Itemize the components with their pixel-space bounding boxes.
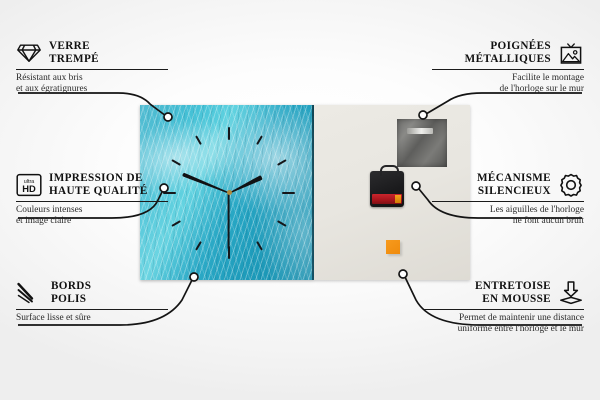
battery-cap bbox=[395, 195, 401, 203]
callout-impression-haute-qualite: ultra HD IMPRESSION DEHAUTE QUALITÉ Coul… bbox=[16, 172, 168, 228]
mechanism-hook bbox=[380, 165, 399, 176]
second-hand bbox=[228, 193, 230, 249]
hanger-slot bbox=[407, 128, 433, 134]
callout-divider bbox=[432, 201, 584, 202]
infographic-canvas: VERRETREMPÉ Résistant aux bris et aux ég… bbox=[0, 0, 600, 400]
callout-header: MÉCANISMESILENCIEUX bbox=[432, 172, 584, 198]
callout-header: VERRETREMPÉ bbox=[16, 40, 168, 66]
callout-subtitle: Surface lisse et sûre bbox=[16, 313, 168, 324]
callout-poignees-metalliques: POIGNÉESMÉTALLIQUES Facilite le montage … bbox=[432, 40, 584, 96]
callout-title: VERRETREMPÉ bbox=[49, 40, 99, 66]
picture-hanger-icon bbox=[558, 41, 584, 65]
hour-marker bbox=[256, 135, 263, 145]
callout-subtitle: Couleurs intenses et image claire bbox=[16, 205, 168, 228]
callout-header: ENTRETOISEEN MOUSSE bbox=[424, 280, 584, 306]
callout-title: IMPRESSION DEHAUTE QUALITÉ bbox=[49, 172, 148, 198]
callout-subtitle: Facilite le montage de l'horloge sur le … bbox=[432, 73, 584, 96]
diamond-icon bbox=[16, 43, 42, 63]
callout-divider bbox=[16, 69, 168, 70]
gear-icon bbox=[558, 172, 584, 198]
hour-marker bbox=[282, 192, 295, 194]
callout-header: POIGNÉESMÉTALLIQUES bbox=[432, 40, 584, 66]
callout-mecanisme-silencieux: MÉCANISMESILENCIEUX Les aiguilles de l'h… bbox=[432, 172, 584, 228]
callout-bords-polis: BORDSPOLIS Surface lisse et sûre bbox=[16, 280, 168, 324]
metal-hanger-swatch bbox=[397, 119, 447, 167]
hour-marker bbox=[171, 159, 181, 166]
minute-hand bbox=[182, 172, 230, 194]
hour-marker bbox=[256, 240, 263, 250]
hd-label: HD bbox=[22, 183, 36, 194]
callout-subtitle: Résistant aux bris et aux égratignures bbox=[16, 73, 168, 96]
clock-center-pin bbox=[227, 190, 232, 195]
hour-hand bbox=[228, 174, 263, 194]
callout-header: BORDSPOLIS bbox=[16, 280, 168, 306]
hour-marker bbox=[277, 159, 287, 166]
callout-entretoise-en-mousse: ENTRETOISEEN MOUSSE Permet de maintenir … bbox=[424, 280, 584, 336]
hour-marker bbox=[195, 135, 202, 145]
callout-title: ENTRETOISEEN MOUSSE bbox=[475, 280, 551, 306]
quartz-mechanism bbox=[370, 171, 404, 207]
callout-title: POIGNÉESMÉTALLIQUES bbox=[465, 40, 551, 66]
callout-title: BORDSPOLIS bbox=[51, 280, 91, 306]
callout-title: MÉCANISMESILENCIEUX bbox=[477, 172, 551, 198]
callout-divider bbox=[424, 309, 584, 310]
battery bbox=[372, 194, 402, 204]
callout-divider bbox=[432, 69, 584, 70]
product-photo bbox=[140, 105, 470, 280]
foam-spacer-arrow-icon bbox=[558, 280, 584, 306]
polished-edge-lines-icon bbox=[16, 282, 44, 304]
hour-marker bbox=[171, 220, 181, 227]
callout-header: ultra HD IMPRESSION DEHAUTE QUALITÉ bbox=[16, 172, 168, 198]
callout-divider bbox=[16, 201, 168, 202]
callout-divider bbox=[16, 309, 168, 310]
foam-spacer bbox=[386, 240, 400, 254]
hour-marker bbox=[228, 127, 230, 140]
callout-verre-trempe: VERRETREMPÉ Résistant aux bris et aux ég… bbox=[16, 40, 168, 96]
callout-subtitle: Les aiguilles de l'horloge ne font aucun… bbox=[432, 205, 584, 228]
hour-marker bbox=[277, 220, 287, 227]
clock-face bbox=[154, 115, 304, 270]
ultra-hd-badge-icon: ultra HD bbox=[16, 173, 42, 197]
callout-subtitle: Permet de maintenir une distance uniform… bbox=[424, 313, 584, 336]
hour-marker bbox=[195, 240, 202, 250]
